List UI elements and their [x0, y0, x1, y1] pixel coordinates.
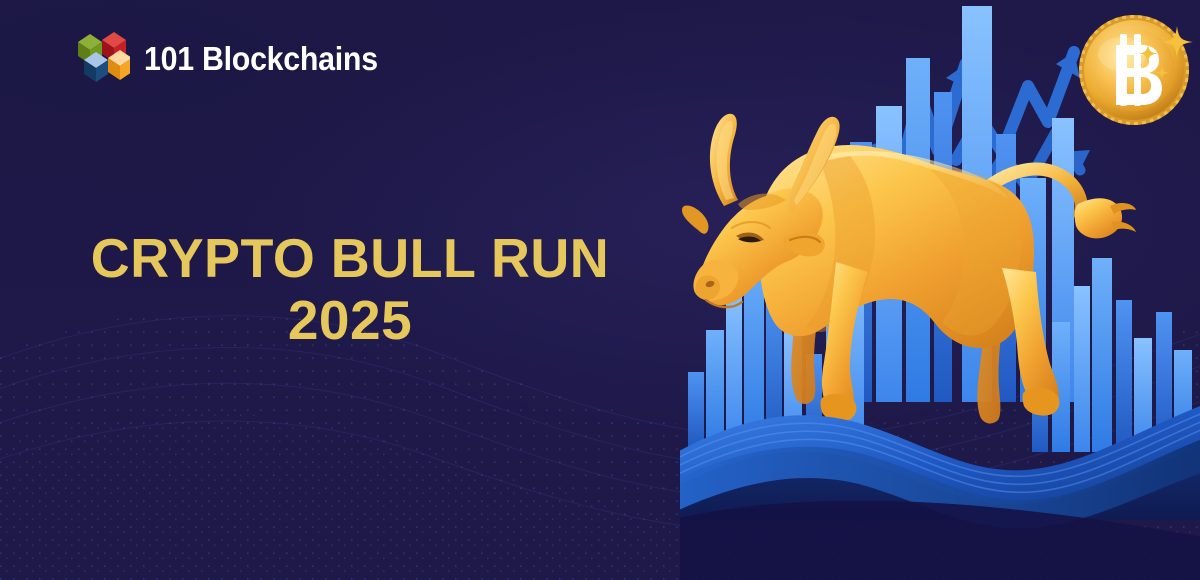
- bitcoin-coin-icon: [1079, 15, 1189, 125]
- headline-line-1: CRYPTO BULL RUN: [7, 228, 693, 290]
- promo-banner: 101 Blockchains CRYPTO BULL RUN 2025: [0, 0, 1200, 580]
- page-title: CRYPTO BULL RUN 2025: [0, 228, 700, 351]
- brand-name: 101 Blockchains: [144, 42, 378, 75]
- headline-line-2: 2025: [0, 290, 700, 352]
- brand-logo[interactable]: 101 Blockchains: [74, 28, 398, 88]
- hero-illustration: [680, 0, 1200, 580]
- four-isometric-cubes-logo-icon: [74, 28, 130, 88]
